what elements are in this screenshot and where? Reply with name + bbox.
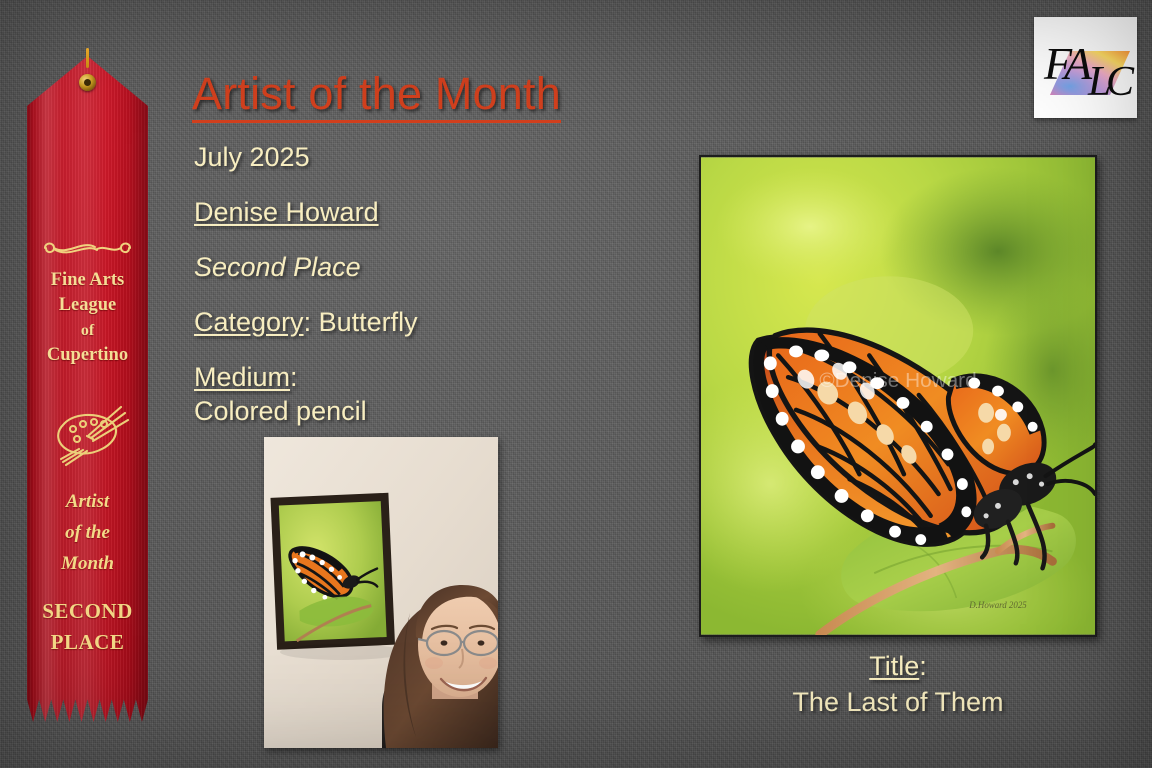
medium-label: Medium	[194, 362, 290, 392]
ribbon-place-line-1: SECOND	[31, 596, 144, 627]
ribbon-org-line-2: League	[31, 293, 144, 318]
info-date: July 2025	[194, 142, 664, 172]
ribbon-place-line-2: PLACE	[31, 627, 144, 658]
artist-name-text: Denise Howard	[194, 197, 379, 227]
page-title: Artist of the Month	[192, 70, 561, 123]
artwork-signature: D.Howard 2025	[968, 600, 1027, 610]
artwork-watermark: ©Denise Howard	[819, 369, 976, 392]
ribbon-content: Fine Arts League of Cupertino	[27, 56, 148, 722]
ribbon-place: SECOND PLACE	[31, 596, 144, 658]
ribbon-aotm-line-2: of the	[31, 517, 144, 548]
artist-photo	[264, 437, 498, 748]
info-medium-label: Medium:	[194, 362, 664, 392]
ribbon-organization: Fine Arts League of Cupertino	[31, 268, 144, 368]
title-label: Title	[869, 651, 919, 681]
category-value: : Butterfly	[304, 307, 418, 337]
artist-palette-icon	[43, 391, 133, 469]
flourish-ornament-icon	[27, 234, 148, 264]
svg-text:C: C	[1106, 59, 1135, 105]
ribbon-org-line-3: of	[31, 318, 144, 343]
ribbon-thread	[86, 48, 89, 68]
medium-colon: :	[290, 362, 298, 392]
info-artist-name: Denise Howard	[194, 197, 664, 227]
ribbon-award-name: Artist of the Month	[31, 486, 144, 579]
info-medium-value: Colored pencil	[194, 396, 664, 426]
artist-info-block: July 2025 Denise Howard Second Place Cat…	[194, 142, 664, 426]
slide-background: Fine Arts League of Cupertino	[0, 0, 1152, 768]
ribbon-org-line-4: Cupertino	[31, 343, 144, 368]
artwork-title-value: The Last of Them	[699, 684, 1097, 720]
artist-photo-graphic	[264, 437, 498, 748]
award-ribbon: Fine Arts League of Cupertino	[27, 48, 148, 734]
category-label: Category	[194, 307, 304, 337]
title-colon: :	[919, 651, 927, 681]
info-award: Second Place	[194, 252, 664, 282]
falc-logo-graphic: F A L C	[1034, 17, 1137, 118]
artwork-title-label-line: Title:	[699, 648, 1097, 684]
ribbon-org-line-1: Fine Arts	[31, 268, 144, 293]
artwork-caption: Title: The Last of Them	[699, 648, 1097, 720]
ribbon-aotm-line-3: Month	[31, 548, 144, 579]
info-category: Category: Butterfly	[194, 307, 664, 337]
falc-logo: F A L C	[1034, 17, 1137, 118]
artwork-image: ©Denise Howard D.Howard 2025	[699, 155, 1097, 637]
ribbon-aotm-line-1: Artist	[31, 486, 144, 517]
ribbon-grommet-icon	[79, 74, 96, 91]
artwork-graphic: ©Denise Howard D.Howard 2025	[701, 157, 1095, 635]
